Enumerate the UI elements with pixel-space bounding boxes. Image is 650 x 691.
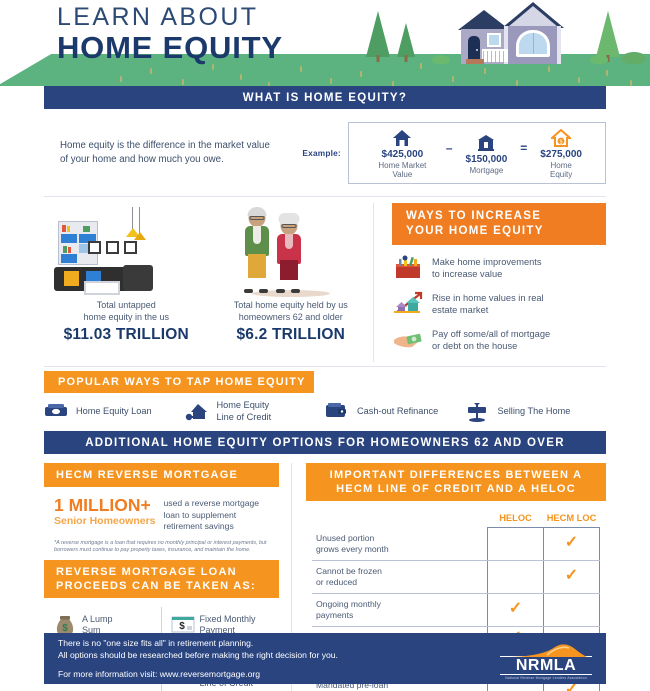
cell-heloc: ✓ (488, 593, 544, 626)
popular-way-text: Selling The Home (498, 406, 571, 418)
check-icon: ✓ (509, 600, 522, 617)
example-amount: $150,000 (466, 154, 508, 165)
check-icon: ✓ (565, 567, 578, 584)
ways-to-increase-banner: WAYS TO INCREASE YOUR HOME EQUITY (392, 203, 606, 245)
popular-way-item: Cash-out Refinance (325, 402, 466, 422)
hecm-numbers: 1 MILLION+ Senior Homeowners (54, 496, 156, 533)
divider (44, 366, 606, 367)
example-caption: Home Equity (540, 161, 582, 179)
hand-money-icon (392, 326, 432, 354)
way-item: Pay off some/all of mortgage or debt on … (392, 326, 606, 354)
footer: There is no "one size fits all" in retir… (44, 633, 606, 684)
nrmla-arc-icon (500, 643, 592, 656)
cell-hecm-loc: ✓ (544, 528, 600, 561)
hecm-fineprint: *A reverse mortgage is a loan that requi… (44, 533, 279, 554)
table-row: Ongoing monthlypayments✓ (312, 593, 600, 626)
bank-icon (466, 133, 508, 152)
way-text: Rise in home values in real estate marke… (432, 292, 544, 317)
popular-way-text: Cash-out Refinance (357, 406, 438, 418)
popular-way-text: Home Equity Line of Credit (217, 400, 272, 423)
footer-line-1: There is no "one size fits all" in retir… (58, 638, 500, 650)
picture-frame-icon (88, 241, 101, 254)
pendant-lamp-icon (134, 232, 146, 240)
house-key-icon (185, 402, 217, 422)
house-dollar-icon: $ (540, 128, 582, 147)
stat-value: $11.03 TRILLION (48, 326, 205, 344)
hecm-banner: HECM REVERSE MORTGAGE (44, 463, 279, 487)
example-amount: $275,000 (540, 149, 582, 160)
col-header-blank (312, 511, 488, 528)
popular-way-item: Home Equity Loan (44, 402, 185, 422)
picture-frame-icon (106, 241, 119, 254)
title-line-2: HOME EQUITY (57, 31, 283, 64)
stats-and-ways-section: Total untapped home equity in the us $11… (0, 197, 650, 366)
row-label: Cannot be frozenor reduced (312, 560, 488, 593)
wallet-icon (325, 402, 357, 422)
stat-untapped-equity: Total untapped home equity in the us $11… (44, 203, 209, 362)
example-item-market-value: $425,000 Home Market Value (361, 128, 444, 179)
popular-ways-row: Home Equity Loan Home Equity Line of Cre… (44, 393, 606, 431)
popular-way-item: Selling The Home (466, 402, 607, 422)
way-text: Make home improvements to increase value (432, 256, 542, 281)
living-room-illustration (48, 203, 205, 299)
ways-list: Make home improvements to increase value (392, 254, 606, 354)
example-block: Example: $425,000 Home Market Value – (302, 122, 606, 184)
cell-hecm-loc: ✓ (544, 560, 600, 593)
cell-heloc (488, 560, 544, 593)
svg-text:$: $ (560, 139, 563, 145)
table-header-row: HELOC HECM LOC (312, 511, 600, 528)
example-caption: Mortgage (466, 166, 508, 175)
way-text: Pay off some/all of mortgage or debt on … (432, 328, 550, 353)
col-header-heloc: HELOC (488, 511, 544, 528)
infographic-page: LEARN ABOUT HOME EQUITY (0, 0, 650, 691)
senior-couple-illustration (213, 203, 370, 299)
toolbox-icon (392, 254, 432, 282)
cushion (64, 271, 79, 286)
bush-icon (622, 52, 646, 64)
proceeds-banner: REVERSE MORTGAGE LOAN PROCEEDS CAN BE TA… (44, 560, 279, 598)
cell-heloc (488, 528, 544, 561)
page-title: LEARN ABOUT HOME EQUITY (57, 4, 283, 64)
table-row: Unused portiongrows every month✓ (312, 528, 600, 561)
table-row: Cannot be frozenor reduced✓ (312, 560, 600, 593)
definition-section: Home equity is the difference in the mar… (0, 109, 650, 196)
col-header-hecm-loc: HECM LOC (544, 511, 600, 528)
example-caption: Home Market Value (372, 161, 433, 179)
popular-way-item: Home Equity Line of Credit (185, 400, 326, 423)
operator-minus: – (444, 141, 455, 155)
example-item-mortgage: $150,000 Mortgage (455, 133, 519, 175)
hecm-stat: 1 MILLION+ Senior Homeowners used a reve… (44, 496, 279, 533)
lamp-cord (132, 207, 133, 229)
example-box: $425,000 Home Market Value – $150,000 (348, 122, 606, 184)
check-icon: ✓ (565, 534, 578, 551)
footer-line-2: All options should be researched before … (58, 650, 500, 662)
senior-woman-icon (269, 209, 309, 293)
nrmla-tagline: National Reverse Mortgage Lenders Associ… (500, 676, 592, 680)
house-illustration (372, 0, 650, 86)
definition-text: Home equity is the difference in the mar… (60, 139, 280, 167)
coffee-table-icon (84, 281, 120, 295)
operator-equals: = (518, 141, 529, 155)
popular-ways-banner: POPULAR WAYS TO TAP HOME EQUITY (44, 371, 314, 393)
comparison-banner: IMPORTANT DIFFERENCES BETWEEN A HECM LIN… (306, 463, 606, 501)
armchair-icon (123, 265, 153, 291)
title-line-1: LEARN ABOUT (57, 4, 283, 31)
nrmla-logo: NRMLA National Reverse Mortgage Lenders … (500, 637, 592, 680)
header: LEARN ABOUT HOME EQUITY (0, 0, 650, 86)
svg-text:$: $ (179, 621, 185, 632)
row-label: Unused portiongrows every month (312, 528, 488, 561)
example-amount: $425,000 (372, 149, 433, 160)
picture-frame-icon (124, 241, 137, 254)
banner-what-is-home-equity: WHAT IS HOME EQUITY? (44, 86, 606, 109)
way-item: Rise in home values in real estate marke… (392, 290, 606, 318)
for-sale-sign-icon (466, 402, 498, 422)
way-item: Make home improvements to increase value (392, 254, 606, 282)
footer-link[interactable]: For more information visit: www.reversem… (58, 669, 500, 679)
stat-caption: Total untapped home equity in the us (48, 299, 205, 323)
bush-icon (590, 55, 608, 64)
row-label: Ongoing monthlypayments (312, 593, 488, 626)
example-item-home-equity: $ $275,000 Home Equity (529, 128, 593, 179)
house-icon (372, 128, 433, 147)
footer-text: There is no "one size fits all" in retir… (58, 638, 500, 679)
rising-home-value-icon (392, 290, 432, 318)
banner-additional-options: ADDITIONAL HOME EQUITY OPTIONS FOR HOMEO… (44, 431, 606, 454)
stat-caption: Total home equity held by us homeowners … (213, 299, 370, 323)
nrmla-wordmark: NRMLA (500, 656, 592, 675)
hecm-big-number: 1 MILLION+ (54, 496, 156, 515)
stat-value: $6.2 TRILLION (213, 326, 370, 344)
popular-way-text: Home Equity Loan (76, 406, 152, 418)
cash-icon (44, 402, 76, 422)
cell-hecm-loc (544, 593, 600, 626)
bush-icon (432, 55, 450, 64)
example-label: Example: (302, 148, 341, 158)
stat-senior-equity: Total home equity held by us homeowners … (209, 203, 374, 362)
house-graphic (458, 2, 576, 64)
hecm-description: used a reverse mortgage loan to suppleme… (164, 496, 260, 533)
hecm-sub-number: Senior Homeowners (54, 515, 156, 528)
ways-to-increase-section: WAYS TO INCREASE YOUR HOME EQUITY (374, 203, 606, 362)
stats-group: Total untapped home equity in the us $11… (44, 203, 374, 362)
